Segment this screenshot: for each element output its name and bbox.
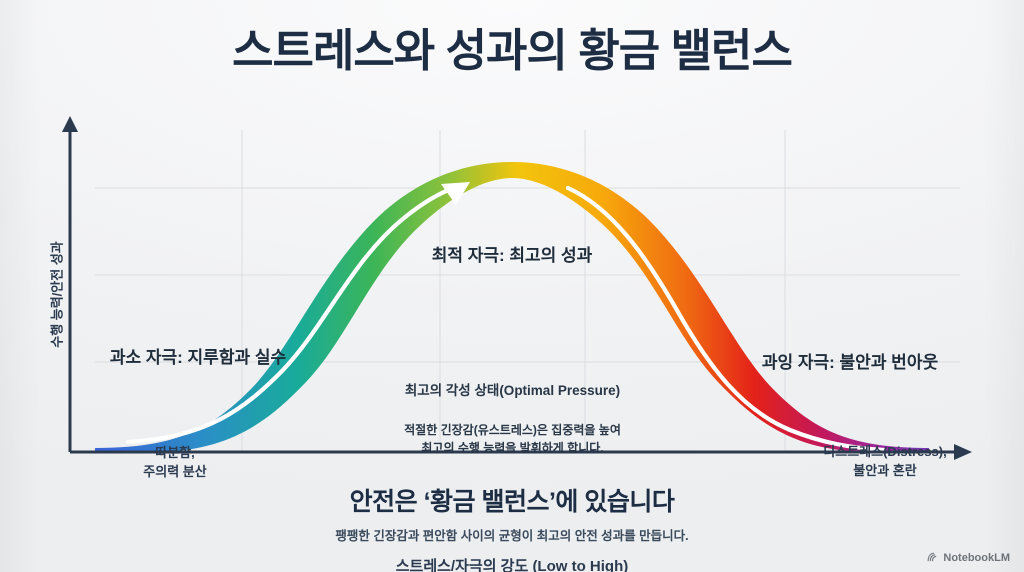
annotation-overload-detail: 디스트레스(Distress), 불안과 혼란 xyxy=(790,443,980,481)
footer-block: 안전은 ‘황금 밸런스’에 있습니다 팽팽한 긴장감과 편안함 사이의 균형이 … xyxy=(0,482,1024,544)
annotation-overload-title: 과잉 자극: 불안과 번아웃 xyxy=(700,348,1000,373)
watermark-label: NotebookLM xyxy=(943,552,1010,564)
annotation-optimal-detail-head: 최고의 각성 상태(Optimal Pressure) xyxy=(375,381,650,401)
annotation-underload-title: 과소 자극: 지루함과 실수 xyxy=(58,343,338,368)
infographic-poster: 스트레스와 성과의 황금 밸런스 xyxy=(0,0,1024,572)
watermark: NotebookLM xyxy=(926,551,1010,564)
annotation-optimal-peak: 최적 자극: 최고의 성과 xyxy=(0,241,1024,266)
y-axis-arrowhead xyxy=(62,116,78,132)
footer-subline: 팽팽한 긴장감과 편안함 사이의 균형이 최고의 안전 성과를 만듭니다. xyxy=(0,525,1024,544)
page-title: 스트레스와 성과의 황금 밸런스 xyxy=(0,26,1024,76)
footer-headline: 안전은 ‘황금 밸런스’에 있습니다 xyxy=(0,482,1024,518)
annotation-underload-detail: 따분함, 주의력 분산 xyxy=(105,444,245,482)
annotation-optimal-detail-body: 적절한 긴장감(유스트레스)은 집중력을 높여 최고의 수행 능력을 발휘하게 … xyxy=(375,421,650,457)
chart-container: 수행 능력/안전 성과 스트레스/자극의 강도 (Low to High) 최적… xyxy=(0,100,1024,475)
notebooklm-icon xyxy=(926,551,939,564)
annotation-optimal-detail: 최고의 각성 상태(Optimal Pressure) 적절한 긴장감(유스트레… xyxy=(375,362,650,476)
x-axis-label: 스트레스/자극의 강도 (Low to High) xyxy=(0,555,1024,572)
